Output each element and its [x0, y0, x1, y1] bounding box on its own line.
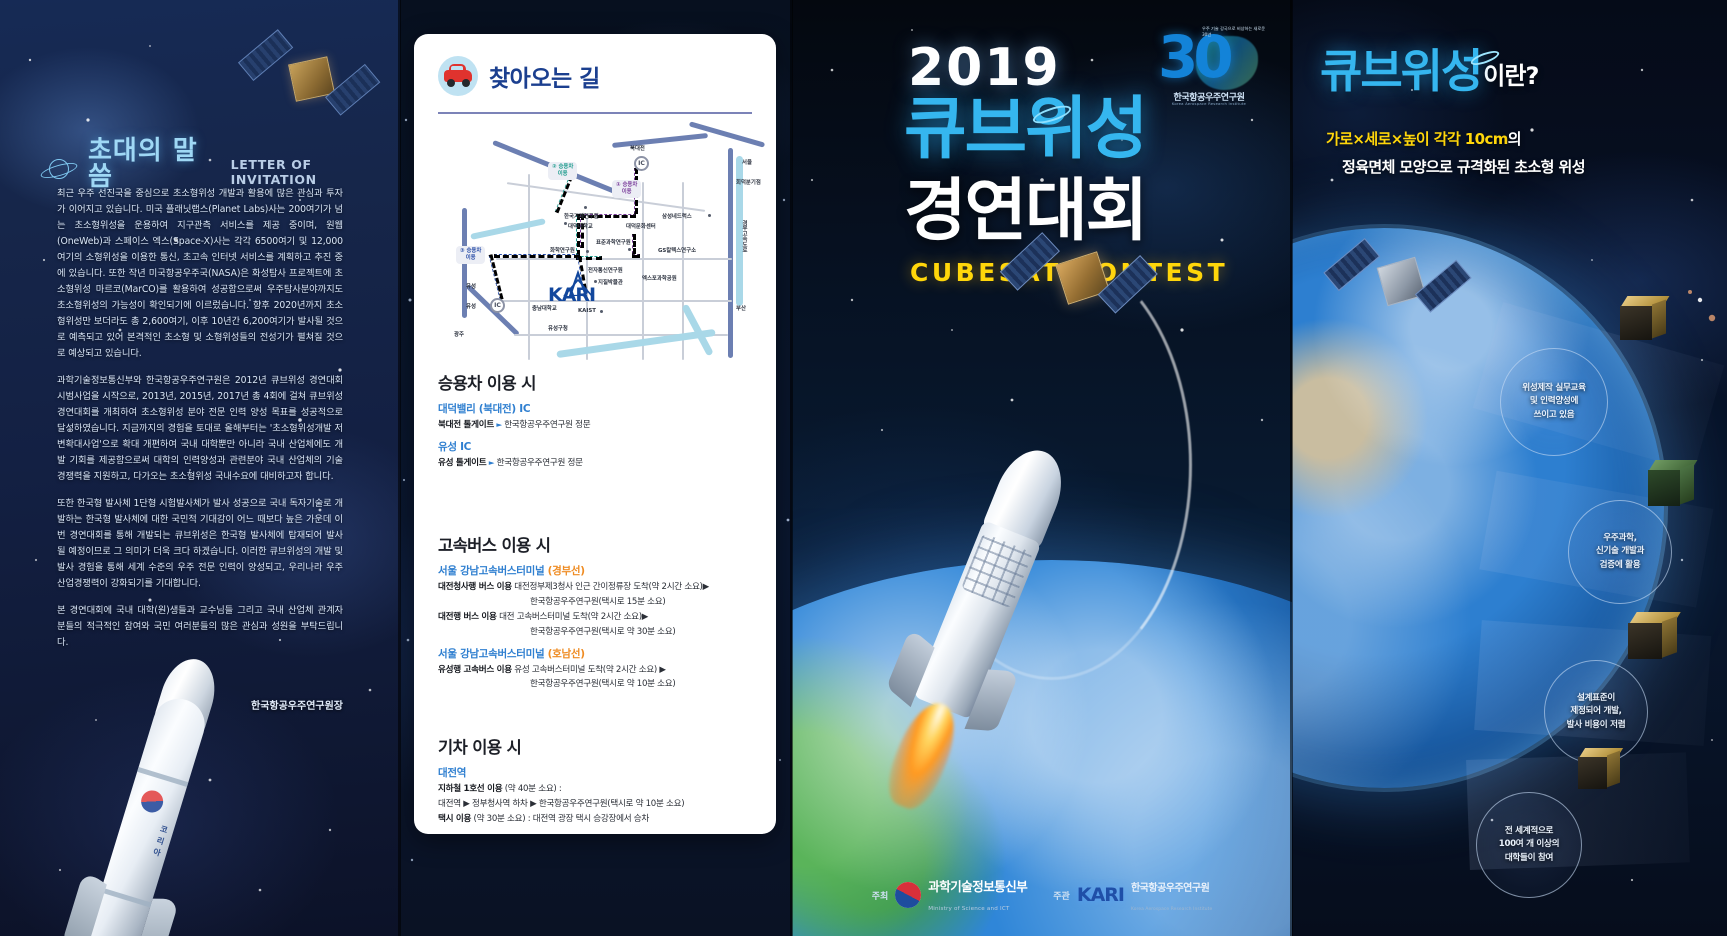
anniversary-org-en: Korea Aerospace Research Institute: [1152, 101, 1266, 106]
cubesat-thumb-gold-1: [1620, 296, 1672, 344]
section-subheading: 서울 강남고속버스터미널 (호남선): [438, 646, 754, 661]
map-direction: 서울: [742, 158, 752, 166]
contest-year: 2019: [908, 42, 1061, 94]
sponsor-role-host: 주최: [872, 889, 889, 902]
saturn-icon: [40, 156, 78, 186]
direction-line: 택시 이용 (약 30분 소요) : 대전역 광장 택시 승강장에서 승차: [438, 813, 754, 826]
map-road-label: 경부고속도로: [740, 220, 748, 252]
sponsor-host-name-en: Ministry of Science and ICT: [928, 906, 1009, 912]
panel-directions: 찾아오는 길: [400, 0, 792, 936]
page-subtitle: LETTER OF INVITATION: [231, 157, 400, 187]
section-subheading: 서대전역: [438, 833, 754, 834]
spacer: [438, 472, 754, 477]
section-heading: 고속버스 이용 시: [438, 532, 754, 556]
section-heading: 기차 이용 시: [438, 734, 754, 758]
map-direction: 유성: [466, 282, 476, 290]
sponsor-host: 주최 과학기술정보통신부 Ministry of Science and ICT: [872, 876, 1028, 914]
direction-line: 대전청사행 버스 이용 대전정부제3청사 인근 간이정류장 도착(약 2시간 소…: [438, 581, 754, 594]
cubesat-title-suffix: 이란?: [1483, 56, 1538, 91]
spacer: [438, 693, 754, 698]
cubesat-subtitle-line1: 가로×세로×높이 각각 10cm의: [1326, 128, 1521, 149]
direction-line: 북대전 톨게이트 ► 한국항공우주연구원 정문: [438, 419, 754, 432]
map-place: 화학연구원: [550, 246, 575, 254]
taeguk-icon: [895, 882, 921, 908]
contest-title-line1: 큐브위성: [904, 96, 1146, 164]
direction-line: 한국항공우주연구원(택시로 약 10분 소요): [438, 678, 754, 691]
car-icon: [438, 56, 478, 96]
direction-line: 한국항공우주연구원(택시로 약 30분 소요): [438, 626, 754, 639]
map-ic-yuseong: IC: [490, 298, 505, 313]
map-ic-bukdaejeon: IC: [634, 156, 649, 171]
cubesat-subtitle-line2: 정육면체 모양으로 규격화된 초소형 위성: [1342, 156, 1585, 177]
map-place: KAIST: [578, 308, 596, 314]
directions-section: 기차 이용 시대전역지하철 1호선 이용 (약 40분 소요) :대전역 ▶ 정…: [438, 734, 754, 834]
invitation-paragraph: 과학기술정보통신부와 한국항공우주연구원은 2012년 큐브위성 경연대회 시범…: [57, 373, 343, 485]
invitation-paragraph: 본 경연대회에 국내 대학(원)생들과 교수님들 그리고 국내 산업체 관계자 …: [57, 603, 343, 651]
panel-what-is-cubesat: 큐브위성 이란? 가로×세로×높이 각각 10cm의 정육면체 모양으로 규격화…: [1292, 0, 1727, 936]
cubesat-title-text: 큐브위성: [1320, 44, 1481, 98]
map-direction: 광주: [454, 330, 464, 338]
map-place: 지질박물관: [598, 278, 623, 286]
brochure-poster: 초대의 말씀 LETTER OF INVITATION 최근 우주 선진국을 중…: [0, 0, 1727, 936]
callout-text-1: 위성제작 실무교육및 인력양성에쓰이고 있음: [1522, 382, 1586, 422]
sponsor-host-name-ko: 과학기술정보통신부: [928, 879, 1027, 894]
sponsor-org-name-ko: 한국항공우주연구원: [1131, 883, 1209, 894]
section-subheading: 대덕밸리 (북대전) IC: [438, 401, 754, 416]
cubesat-subtitle-tail: 의: [1508, 130, 1521, 148]
map-label-yuseong: 유성: [466, 302, 476, 310]
directions-card: 찾아오는 길: [414, 34, 776, 834]
callout-text-3: 설계표준이제정되어 개발,발사 비용이 저렴: [1567, 692, 1626, 732]
callout-bubble-4: 전 세계적으로100여 개 이상의대학들이 참여: [1476, 792, 1582, 898]
section-subheading: 유성 IC: [438, 439, 754, 454]
sponsor-role-organizer: 주관: [1053, 889, 1070, 902]
map-badge-1: ① 승용차이용: [612, 180, 641, 198]
header-divider: [438, 112, 752, 114]
direction-line: 지하철 1호선 이용 (약 40분 소요) :: [438, 783, 754, 796]
callout-bubble-1: 위성제작 실무교육및 인력양성에쓰이고 있음: [1500, 348, 1608, 456]
kari-wordmark: KARI: [1077, 884, 1124, 906]
cubesat-thumb-green: [1648, 460, 1700, 510]
panel-letter-of-invitation: 초대의 말씀 LETTER OF INVITATION 최근 우주 선진국을 중…: [0, 0, 400, 936]
sponsor-org-name-en: Korea Aerospace Research Institute: [1131, 907, 1212, 912]
map-place: 한국기계연구원: [564, 212, 599, 220]
cubesat-subtitle-highlight: 가로×세로×높이 각각 10cm: [1326, 130, 1508, 148]
directions-title: 찾아오는 길: [489, 59, 600, 93]
section-heading: 승용차 이용 시: [438, 370, 754, 394]
direction-line: 대전역 ▶ 정부청사역 하차 ▶ 한국항공우주연구원(택시로 약 10분 소요): [438, 798, 754, 811]
section-subheading: 서울 강남고속버스터미널 (경부선): [438, 563, 754, 578]
direction-line: 유성행 고속버스 이용 유성 고속버스터미널 도착(약 2시간 소요) ▶: [438, 664, 754, 677]
callout-bubble-2: 우주과학,신기술 개발과검증에 활용: [1568, 500, 1672, 604]
direction-line: 한국항공우주연구원(택시로 15분 소요): [438, 596, 754, 609]
kari-mark-icon: [556, 270, 600, 296]
invitation-body: 최근 우주 선진국을 중심으로 초소형위성 개발과 활용에 많은 관심과 투자가…: [57, 186, 343, 662]
section-subheading: 대전역: [438, 765, 754, 780]
cubesat-thumb-gold-3: [1578, 748, 1626, 794]
directions-section: 고속버스 이용 시서울 강남고속버스터미널 (경부선)대전청사행 버스 이용 대…: [438, 532, 754, 698]
panel4-header: 큐브위성 이란?: [1320, 48, 1538, 94]
invitation-paragraph: 또한 한국형 발사체 1단형 시험발사체가 발사 성공으로 국내 독자기술로 개…: [57, 496, 343, 592]
map-badge-3: ③ 승용차이용: [456, 246, 485, 264]
sponsor-host-names: 과학기술정보통신부 Ministry of Science and ICT: [928, 876, 1027, 914]
callout-text-4: 전 세계적으로100여 개 이상의대학들이 참여: [1499, 825, 1559, 865]
panel-seam-3: [1290, 0, 1293, 936]
invitation-paragraph: 최근 우주 선진국을 중심으로 초소형위성 개발과 활용에 많은 관심과 투자가…: [57, 186, 343, 362]
map-badge-2: ② 승용차이용: [548, 162, 577, 180]
contest-title-line1-text: 큐브위성: [904, 90, 1146, 169]
sponsor-organizer-names: 한국항공우주연구원 Korea Aerospace Research Insti…: [1131, 876, 1212, 914]
anniversary-micro-text: 우주 기술 강국으로 비상하는 새로운 30년: [1202, 26, 1268, 37]
panel-title: 30 우주 기술 강국으로 비상하는 새로운 30년 한국항공우주연구원 Kor…: [792, 0, 1292, 936]
panel-seam-1: [398, 0, 401, 936]
anniversary-logo: 30 우주 기술 강국으로 비상하는 새로운 30년 한국항공우주연구원 Kor…: [1144, 16, 1272, 112]
cubesat-title: 큐브위성: [1320, 48, 1481, 94]
location-map[interactable]: IC 북대전 IC 유성 ② 승용차이용 ① 승용차이용 ③ 승용차이용 한국기…: [436, 122, 754, 360]
cubesat-thumb-gold-2: [1628, 612, 1684, 664]
map-direction: 부산: [736, 304, 746, 312]
direction-line: 유성 톨게이트 ► 한국항공우주연구원 정문: [438, 457, 754, 470]
map-label-bukdaejeon: 북대전: [630, 144, 645, 152]
map-place: 유성구청: [548, 324, 568, 332]
map-place: GS칼텍스연구소: [658, 246, 696, 254]
page-title: 초대의 말씀: [88, 138, 221, 190]
directions-header: 찾아오는 길: [438, 56, 600, 96]
sponsor-strip: 주최 과학기술정보통신부 Ministry of Science and ICT…: [792, 876, 1292, 914]
sponsor-organizer: 주관 KARI 한국항공우주연구원 Korea Aerospace Resear…: [1053, 876, 1212, 914]
callout-text-2: 우주과학,신기술 개발과검증에 활용: [1596, 532, 1644, 572]
map-place: 대덕대학교: [568, 222, 593, 230]
map-place: 대덕문화센터: [626, 222, 656, 230]
map-place: 표준과학연구원: [596, 238, 631, 246]
directions-section: 승용차 이용 시대덕밸리 (북대전) IC북대전 톨게이트 ► 한국항공우주연구…: [438, 370, 754, 477]
panel1-header: 초대의 말씀 LETTER OF INVITATION: [40, 138, 400, 190]
map-place: 엑스포과학공원: [642, 274, 677, 282]
direction-line: 대전행 버스 이용 대전 고속버스터미널 도착(약 2시간 소요)▶: [438, 611, 754, 624]
panel-seam-2: [790, 0, 793, 936]
map-road-label: 회덕분기점: [736, 178, 761, 186]
map-place: 삼성네드럭스: [662, 212, 692, 220]
